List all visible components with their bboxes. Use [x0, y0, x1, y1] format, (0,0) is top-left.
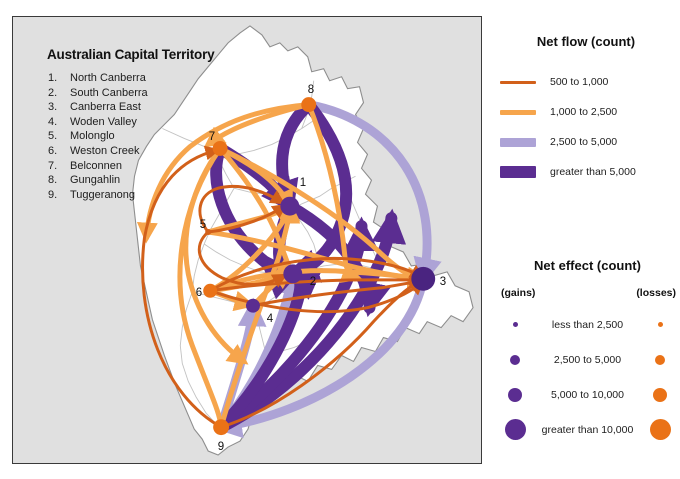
gain-dot — [510, 355, 520, 365]
legend-net-flow: Net flow (count) 500 to 1,0001,000 to 2,… — [500, 34, 672, 187]
district-list-item: 4.Woden Valley — [43, 115, 273, 130]
legend-flow-item: 2,500 to 5,000 — [500, 127, 672, 157]
legend-net-effect-title: Net effect (count) — [495, 258, 680, 273]
district-number: 8. — [43, 173, 70, 188]
district-name: North Canberra — [70, 71, 146, 86]
node-label-5: 5 — [200, 219, 206, 231]
flow-color-swatch — [500, 166, 536, 178]
legend-effect-item: 2,500 to 5,000 — [495, 342, 680, 377]
district-number: 2. — [43, 86, 70, 101]
loss-dot-cell — [640, 322, 680, 327]
district-number: 9. — [43, 188, 70, 203]
district-name: Gungahlin — [70, 173, 120, 188]
gain-dot-cell — [495, 322, 535, 327]
district-number: 1. — [43, 71, 70, 86]
district-list-item: 6.Weston Creek — [43, 144, 273, 159]
legend-effect-item: less than 2,500 — [495, 307, 680, 342]
loss-dot-cell — [640, 419, 680, 440]
legend-flow-item: greater than 5,000 — [500, 157, 672, 187]
flow-color-swatch — [500, 81, 536, 84]
flow-range-label: 2,500 to 5,000 — [550, 136, 617, 148]
node-label-3: 3 — [440, 276, 446, 288]
gain-dot-cell — [495, 419, 535, 440]
gain-dot-cell — [495, 355, 535, 365]
flow-color-swatch — [500, 110, 536, 115]
district-list-item: 8.Gungahlin — [43, 173, 273, 188]
map-panel: Australian Capital Territory 1.North Can… — [12, 16, 482, 464]
node-4-marker[interactable] — [246, 299, 260, 313]
map-key: Australian Capital Territory 1.North Can… — [43, 47, 273, 202]
legend-net-effect-rows: less than 2,5002,500 to 5,0005,000 to 10… — [495, 307, 680, 447]
district-name: South Canberra — [70, 86, 148, 101]
effect-range-label: greater than 10,000 — [535, 424, 640, 436]
loss-dot — [658, 322, 663, 327]
district-list-item: 1.North Canberra — [43, 71, 273, 86]
node-6-marker[interactable] — [203, 284, 217, 298]
node-label-6: 6 — [196, 287, 202, 299]
gain-dot — [508, 388, 522, 402]
district-name: Woden Valley — [70, 115, 137, 130]
flow-range-label: 500 to 1,000 — [550, 76, 608, 88]
gain-dot-cell — [495, 388, 535, 402]
district-name: Belconnen — [70, 159, 122, 174]
district-name: Canberra East — [70, 100, 141, 115]
effect-range-label: less than 2,500 — [535, 319, 640, 331]
legend-flow-item: 1,000 to 2,500 — [500, 97, 672, 127]
district-number: 3. — [43, 100, 70, 115]
node-label-2: 2 — [310, 276, 316, 288]
flow-color-swatch — [500, 138, 536, 147]
node-2-marker[interactable] — [283, 264, 302, 283]
district-name: Weston Creek — [70, 144, 140, 159]
node-9-marker[interactable] — [213, 419, 229, 435]
district-number: 4. — [43, 115, 70, 130]
loss-dot-cell — [640, 355, 680, 365]
legend-effect-item: 5,000 to 10,000 — [495, 377, 680, 412]
losses-header: (losses) — [636, 287, 676, 299]
gains-header: (gains) — [501, 287, 535, 299]
page-title: Australian Capital Territory — [47, 47, 273, 62]
district-list-item: 3.Canberra East — [43, 100, 273, 115]
district-name: Molonglo — [70, 129, 115, 144]
node-1-marker[interactable] — [280, 197, 299, 216]
district-list: 1.North Canberra2.South Canberra3.Canber… — [43, 71, 273, 202]
legend-net-effect-subheaders: (gains) (losses) — [495, 287, 680, 299]
loss-dot — [653, 388, 667, 402]
flow-range-label: greater than 5,000 — [550, 166, 636, 178]
district-number: 6. — [43, 144, 70, 159]
district-list-item: 7.Belconnen — [43, 159, 273, 174]
legend-net-flow-title: Net flow (count) — [500, 34, 672, 49]
district-name: Tuggeranong — [70, 188, 135, 203]
district-list-item: 2.South Canberra — [43, 86, 273, 101]
legend-effect-item: greater than 10,000 — [495, 412, 680, 447]
effect-range-label: 2,500 to 5,000 — [535, 354, 640, 366]
node-label-8: 8 — [308, 84, 314, 96]
gain-dot — [505, 419, 526, 440]
flow-range-label: 1,000 to 2,500 — [550, 106, 617, 118]
district-list-item: 9.Tuggeranong — [43, 188, 273, 203]
loss-dot — [655, 355, 665, 365]
legend-net-effect: Net effect (count) (gains) (losses) less… — [495, 258, 680, 447]
node-label-1: 1 — [300, 177, 306, 189]
node-label-4: 4 — [267, 313, 273, 325]
node-label-9: 9 — [218, 441, 224, 453]
legend-flow-item: 500 to 1,000 — [500, 67, 672, 97]
legend-net-flow-rows: 500 to 1,0001,000 to 2,5002,500 to 5,000… — [500, 67, 672, 187]
node-8-marker[interactable] — [301, 97, 316, 112]
loss-dot — [650, 419, 671, 440]
node-3-marker[interactable] — [411, 267, 435, 291]
district-number: 5. — [43, 129, 70, 144]
district-list-item: 5.Molonglo — [43, 129, 273, 144]
gain-dot — [513, 322, 518, 327]
district-number: 7. — [43, 159, 70, 174]
effect-range-label: 5,000 to 10,000 — [535, 389, 640, 401]
loss-dot-cell — [640, 388, 680, 402]
